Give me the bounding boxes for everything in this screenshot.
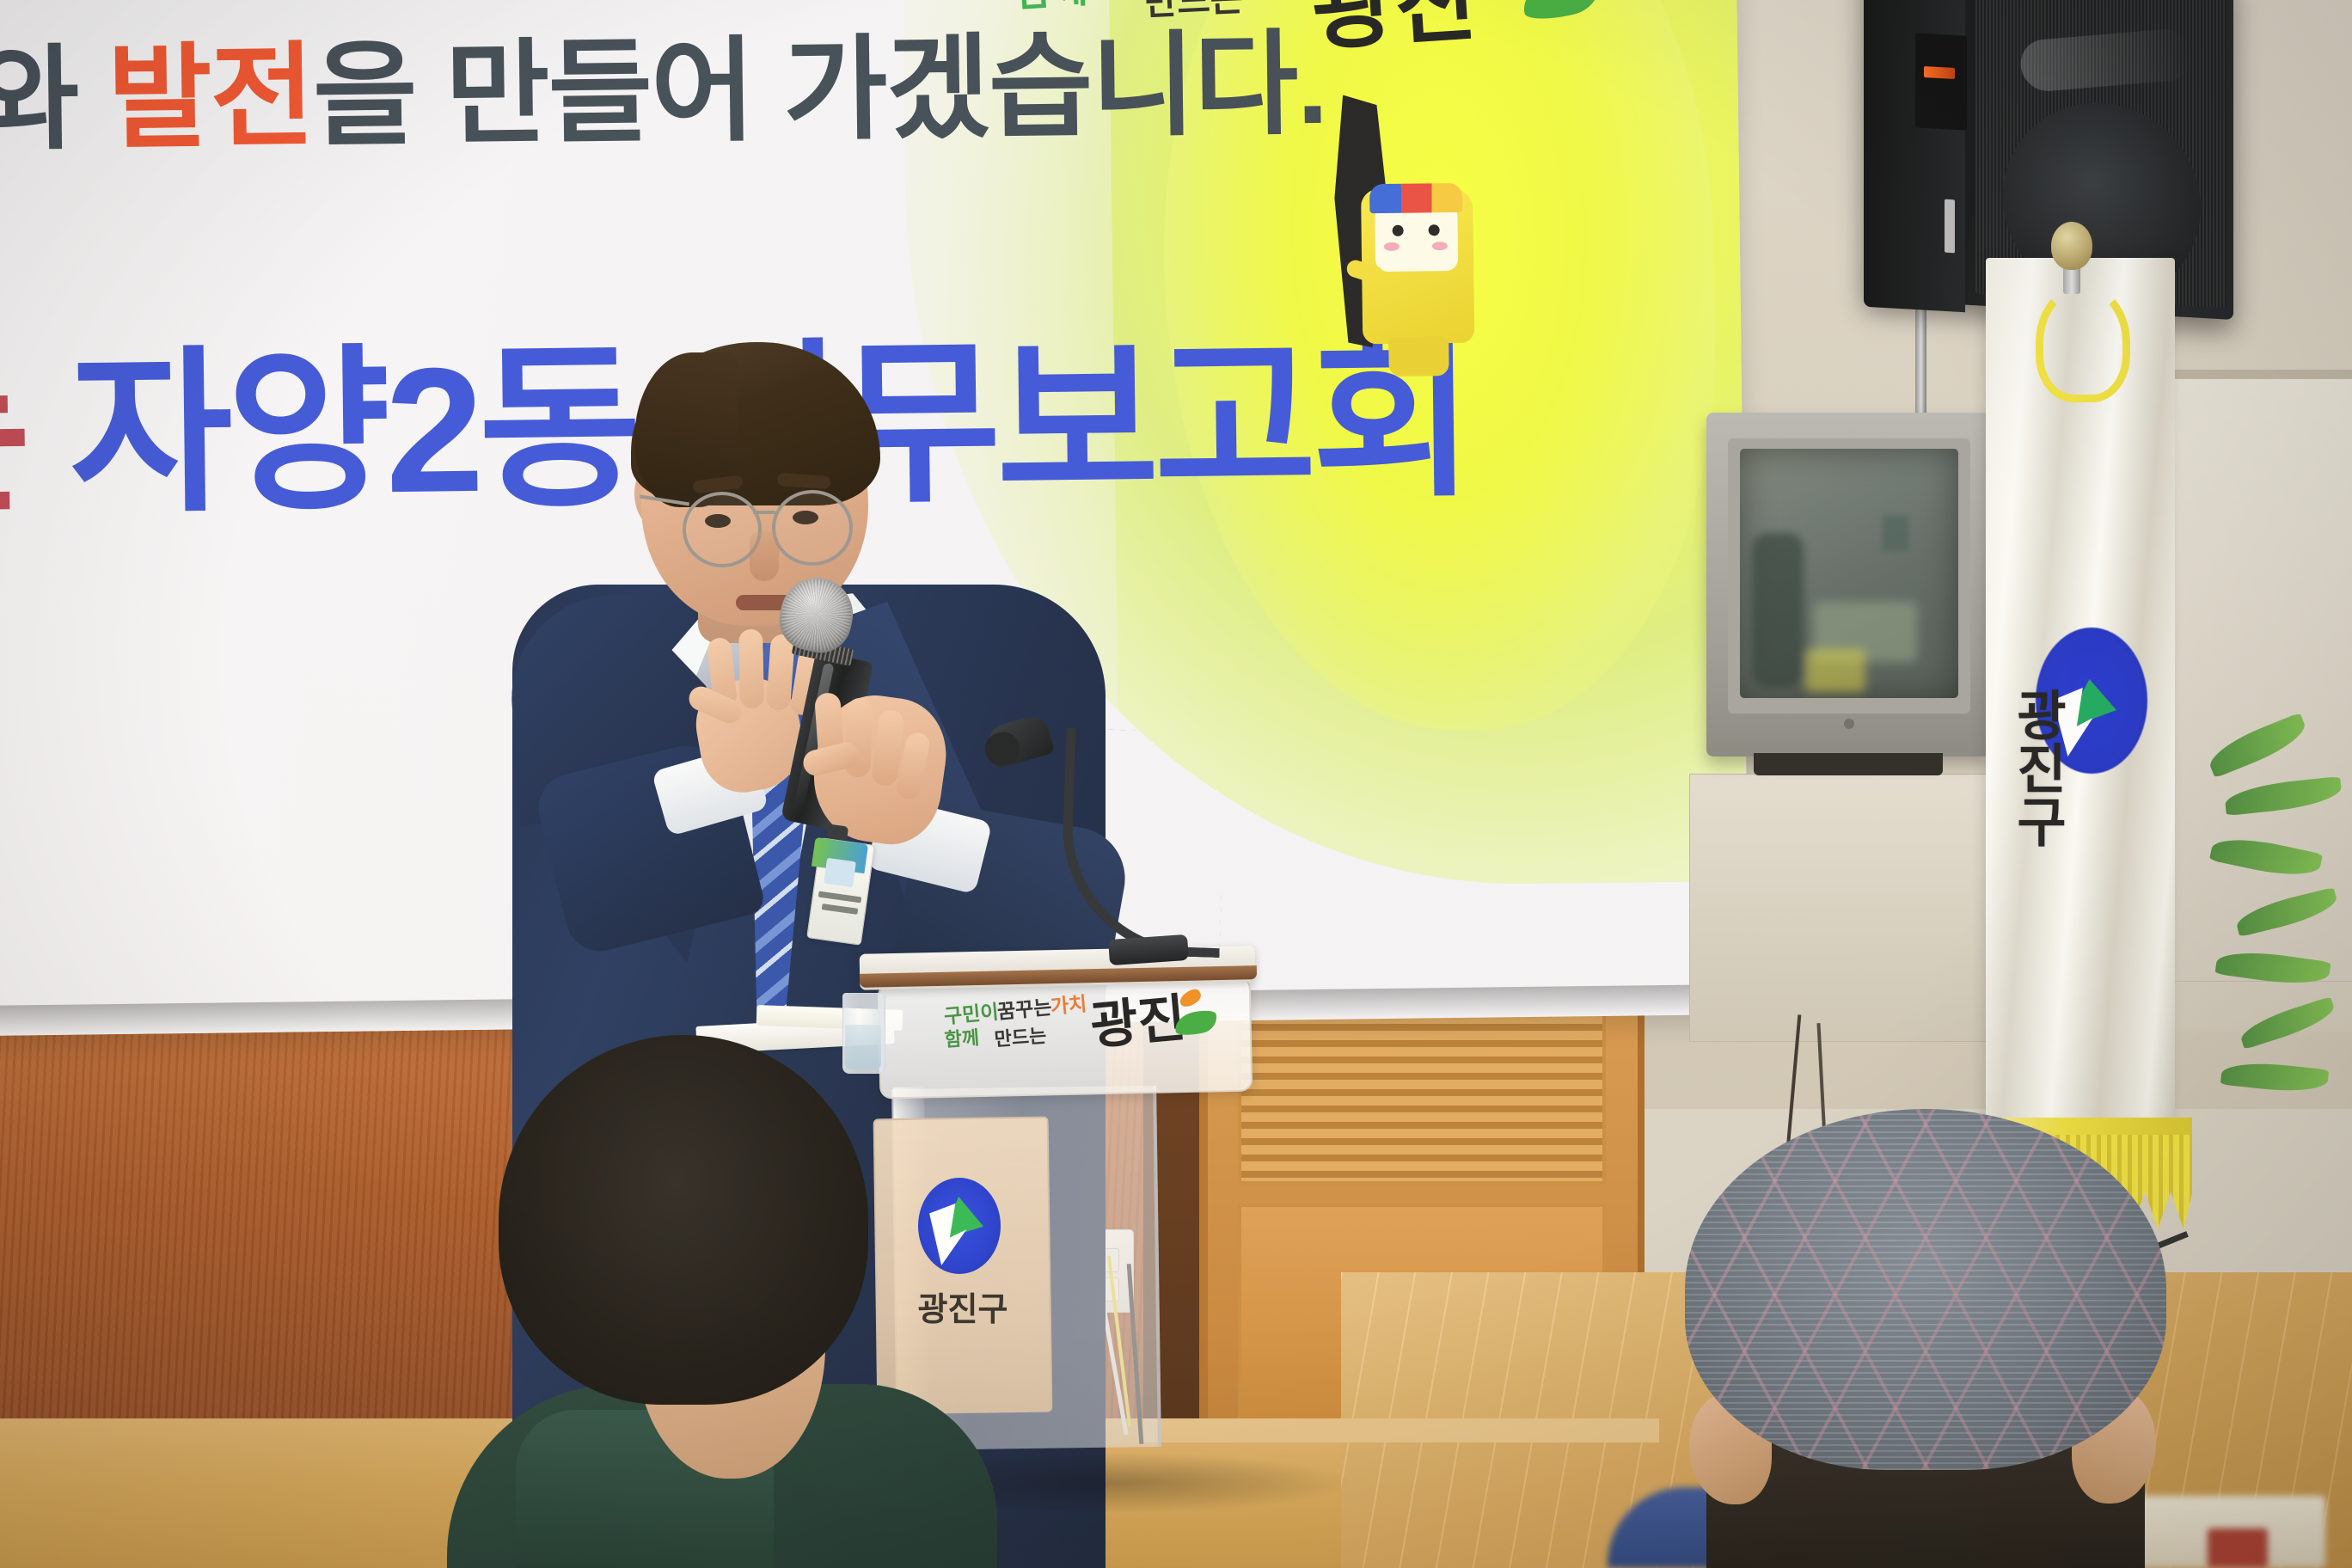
podium-emblem-label: 광진구	[911, 1283, 1014, 1330]
mascot-leg	[1388, 336, 1449, 377]
podium-logo-line2a: 함께	[943, 1022, 980, 1052]
mascot-hat	[1369, 183, 1462, 213]
plant-leaf	[2237, 996, 2337, 1050]
id-badge-photo	[824, 858, 856, 887]
tv-power-indicator	[1844, 719, 1854, 729]
plant-leaf	[2214, 946, 2331, 989]
eyeglasses-bridge	[753, 511, 775, 514]
tv-screen-reflection	[1883, 516, 1908, 550]
pa-speaker-power-led	[1924, 66, 1955, 79]
podium-logo-brand: 광진	[1087, 977, 1188, 1060]
podium-brand-logo: 구민이 꿈꾸는 가치 함께 만드는 광진	[943, 974, 1203, 1057]
podium-logo-line1b: 꿈꾸는	[995, 990, 1052, 1025]
banner-logo-line2: 만드는	[1142, 0, 1245, 26]
baseboard	[1143, 1418, 1659, 1442]
banner-mascot-illustration	[1265, 93, 1493, 456]
finger	[738, 629, 764, 708]
document-red-accent	[2208, 1528, 2268, 1568]
photo-scene: 화와 발전을 만들어 가겠습니다. 는 자양2동 업무보고회 함께 만드는 광진	[0, 0, 2352, 1568]
plaid-cap-pattern	[1685, 1109, 2166, 1470]
banner-subline-highlight-2: 발전	[107, 33, 314, 162]
pa-speaker-horn-vent	[1915, 33, 1967, 130]
flag-cord	[2036, 284, 2130, 402]
audience-member-front-left-head	[499, 1035, 868, 1405]
banner-logo-brand: 광진	[1308, 0, 1480, 68]
banner-headline-red: 는	[0, 336, 27, 536]
water-in-glass	[845, 1025, 881, 1069]
tv-cabinet	[1689, 774, 2018, 1042]
plant-leaf	[2204, 713, 2311, 778]
nose	[750, 531, 779, 581]
plant-leaf	[2233, 887, 2340, 937]
flag-text: 광진구	[2003, 688, 2063, 911]
plant-leaf	[2224, 776, 2343, 816]
eyeglasses-lens-right	[772, 490, 853, 566]
flag-finial-icon	[2051, 222, 2092, 270]
tv-screen-reflection	[1805, 649, 1865, 692]
banner-brand-logo: 함께 만드는 광진	[1014, 0, 1566, 90]
plant-leaf	[2209, 831, 2323, 883]
plant-leaf	[2220, 1059, 2329, 1096]
mascot-face	[1375, 204, 1458, 272]
potted-plant	[2201, 722, 2352, 1152]
podium-logo-line1c: 가치	[1049, 987, 1087, 1020]
tv-screen-reflection	[1752, 533, 1804, 688]
mascot-eye-left	[1393, 225, 1404, 236]
podium-logo-line2b: 만드는	[993, 1020, 1047, 1051]
banner-logo-line1: 함께	[1013, 0, 1089, 18]
pa-speaker-latch	[1945, 199, 1955, 254]
gooseneck-microphone-base	[1108, 934, 1189, 965]
mascot-eye-right	[1429, 224, 1440, 236]
tv-base	[1754, 753, 1943, 775]
